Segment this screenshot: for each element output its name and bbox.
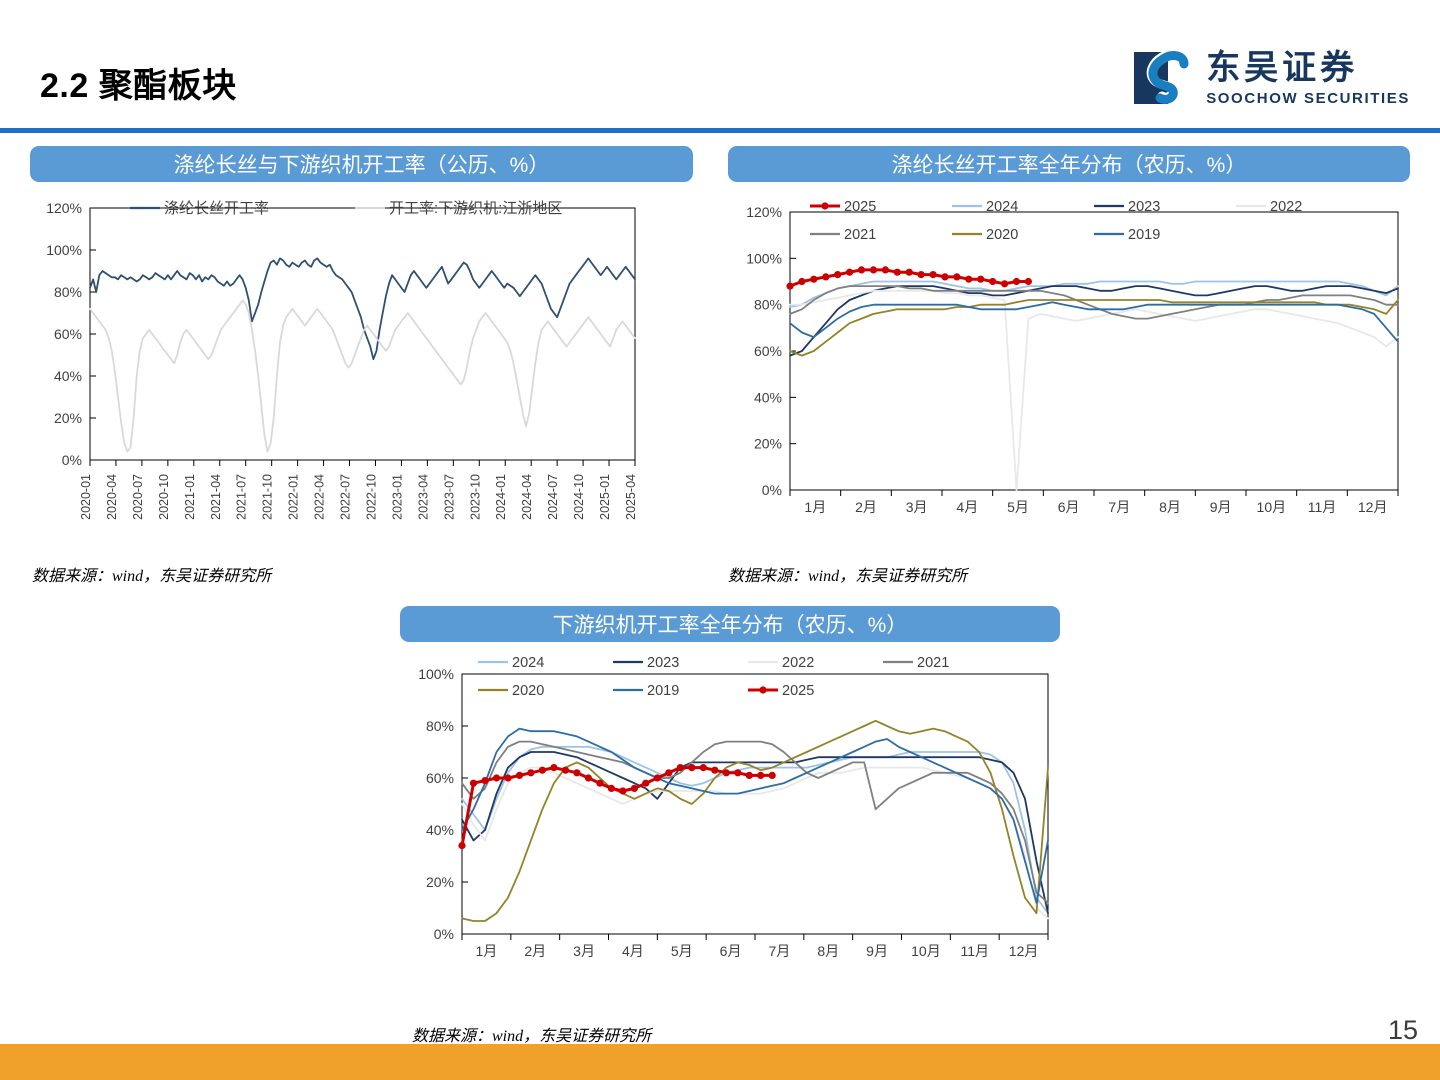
logo-company-name-en: SOOCHOW SECURITIES [1206,91,1410,106]
chart2-plot: 0%20%40%60%80%100%120%1月2月3月4月5月6月7月8月9月… [728,190,1410,560]
svg-text:0%: 0% [62,452,82,468]
svg-text:7月: 7月 [769,943,791,959]
svg-text:1月: 1月 [804,499,826,515]
svg-text:2023-07: 2023-07 [442,474,456,520]
svg-text:60%: 60% [426,770,454,786]
svg-text:2月: 2月 [524,943,546,959]
svg-text:5月: 5月 [1007,499,1029,515]
chart3-title: 下游织机开工率全年分布（农历、%） [553,609,908,639]
svg-text:2020-10: 2020-10 [157,474,171,520]
svg-text:开工率:下游织机:江浙地区: 开工率:下游织机:江浙地区 [389,200,562,217]
svg-text:2023-01: 2023-01 [390,474,404,520]
svg-text:2021: 2021 [917,655,949,671]
svg-text:2025-01: 2025-01 [598,474,612,520]
svg-text:11月: 11月 [960,943,989,959]
svg-text:2021-07: 2021-07 [235,474,249,520]
svg-text:40%: 40% [754,389,782,405]
svg-text:2021: 2021 [844,227,876,243]
chart1-title: 涤纶长丝与下游织机开工率（公历、%） [174,149,550,179]
svg-text:0%: 0% [762,482,782,498]
svg-text:7月: 7月 [1108,499,1130,515]
svg-text:2020: 2020 [986,227,1018,243]
svg-text:2021-04: 2021-04 [209,474,223,520]
svg-text:100%: 100% [46,242,82,258]
chart1-plot: 0%20%40%60%80%100%120%2020-012020-042020… [30,190,645,560]
svg-text:2022-04: 2022-04 [313,474,327,520]
svg-text:9月: 9月 [866,943,888,959]
svg-text:10月: 10月 [1257,499,1287,515]
svg-text:12月: 12月 [1358,499,1388,515]
footer-bar [0,1044,1440,1080]
company-logo: 东吴证券 SOOCHOW SECURITIES [1132,46,1410,110]
svg-text:2020-07: 2020-07 [131,474,145,520]
svg-text:2023-10: 2023-10 [468,474,482,520]
svg-text:2023: 2023 [1128,199,1160,215]
svg-text:2023: 2023 [647,655,679,671]
svg-text:2023-04: 2023-04 [416,474,430,520]
svg-text:2025-04: 2025-04 [624,474,638,520]
svg-text:10月: 10月 [911,943,941,959]
chart2-title-bar: 涤纶长丝开工率全年分布（农历、%） [728,146,1410,182]
svg-text:涤纶长丝开工率: 涤纶长丝开工率 [164,200,269,217]
svg-text:20%: 20% [426,874,454,890]
chart2-title: 涤纶长丝开工率全年分布（农历、%） [892,149,1247,179]
svg-text:40%: 40% [426,822,454,838]
chart3-source-note: 数据来源：wind，东吴证券研究所 [412,1022,651,1046]
svg-text:2025: 2025 [844,199,876,215]
svg-text:2022-01: 2022-01 [287,474,301,520]
svg-text:9月: 9月 [1210,499,1232,515]
svg-text:2022-10: 2022-10 [364,474,378,520]
page-number: 15 [1388,1015,1418,1046]
chart2-source-note: 数据来源：wind，东吴证券研究所 [728,562,967,586]
chart1-title-bar: 涤纶长丝与下游织机开工率（公历、%） [30,146,693,182]
svg-text:2024: 2024 [986,199,1018,215]
chart3-title-bar: 下游织机开工率全年分布（农历、%） [400,606,1060,642]
svg-text:2022-07: 2022-07 [339,474,353,520]
svg-text:60%: 60% [54,326,82,342]
svg-text:100%: 100% [418,666,454,682]
svg-text:2022: 2022 [782,655,814,671]
svg-text:11月: 11月 [1308,499,1337,515]
chart3-plot: 0%20%40%60%80%100%1月2月3月4月5月6月7月8月9月10月1… [400,648,1060,998]
svg-text:80%: 80% [754,297,782,313]
svg-text:3月: 3月 [573,943,595,959]
svg-text:2021-10: 2021-10 [261,474,275,520]
svg-text:60%: 60% [754,343,782,359]
svg-text:3月: 3月 [906,499,928,515]
svg-text:80%: 80% [426,718,454,734]
svg-text:2024: 2024 [512,655,544,671]
svg-text:0%: 0% [434,926,454,942]
header-divider [0,128,1440,133]
svg-text:4月: 4月 [956,499,978,515]
svg-text:120%: 120% [46,200,82,216]
svg-text:2月: 2月 [855,499,877,515]
svg-text:2024-04: 2024-04 [520,474,534,520]
svg-text:2020: 2020 [512,683,544,699]
svg-text:5月: 5月 [671,943,693,959]
svg-text:8月: 8月 [817,943,839,959]
chart1-source-note: 数据来源：wind，东吴证券研究所 [32,562,271,586]
svg-text:100%: 100% [746,250,782,266]
svg-text:120%: 120% [746,204,782,220]
svg-text:4月: 4月 [622,943,644,959]
svg-text:6月: 6月 [1058,499,1080,515]
svg-text:2024-01: 2024-01 [494,474,508,520]
page-title: 2.2 聚酯板块 [40,58,237,107]
soochow-logo-icon [1132,46,1196,110]
svg-text:80%: 80% [54,284,82,300]
svg-text:8月: 8月 [1159,499,1181,515]
svg-text:2019: 2019 [1128,227,1160,243]
svg-text:40%: 40% [54,368,82,384]
svg-text:12月: 12月 [1009,943,1039,959]
svg-text:2020-01: 2020-01 [79,474,93,520]
svg-text:20%: 20% [54,410,82,426]
svg-text:6月: 6月 [720,943,742,959]
logo-company-name-cn: 东吴证券 [1206,51,1410,85]
svg-text:2021-01: 2021-01 [183,474,197,520]
svg-text:2022: 2022 [1270,199,1302,215]
svg-text:2019: 2019 [647,683,679,699]
svg-text:2020-04: 2020-04 [105,474,119,520]
svg-text:2024-07: 2024-07 [546,474,560,520]
svg-text:2025: 2025 [782,683,814,699]
svg-text:2024-10: 2024-10 [572,474,586,520]
svg-text:1月: 1月 [476,943,498,959]
svg-text:20%: 20% [754,436,782,452]
